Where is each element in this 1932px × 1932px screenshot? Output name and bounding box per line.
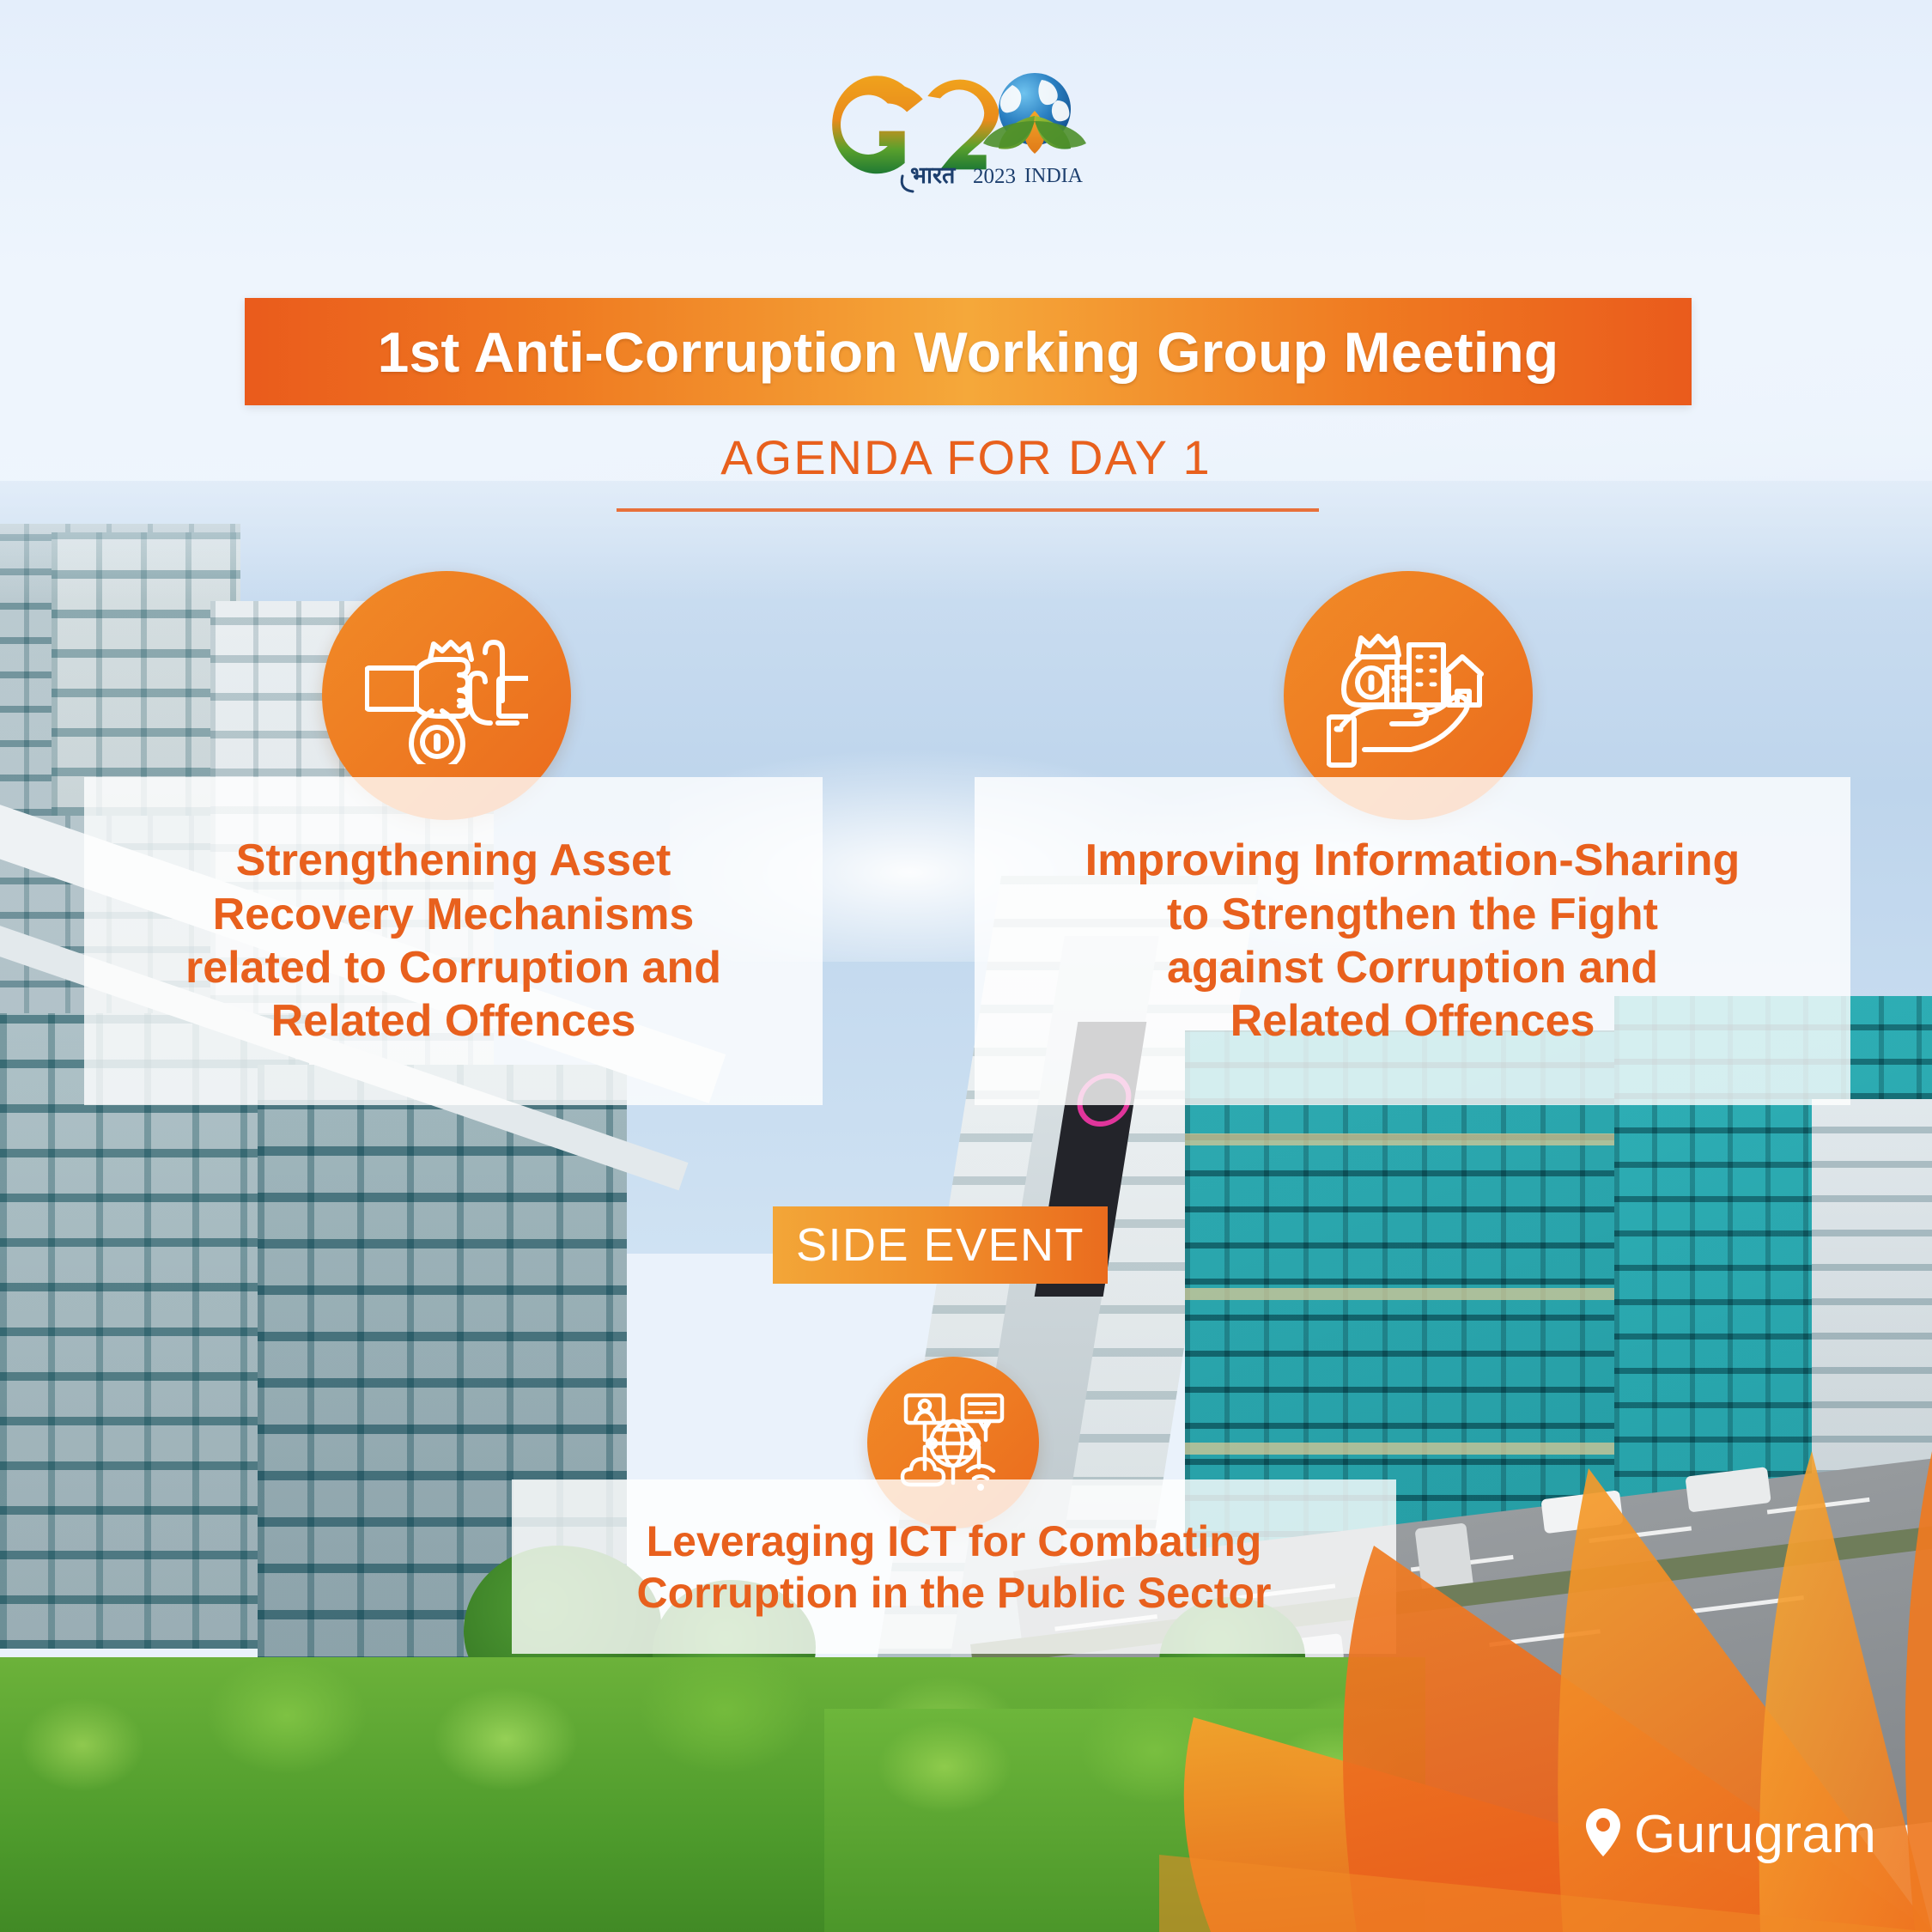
side-event-label: SIDE EVENT	[796, 1218, 1084, 1272]
g20-logo: भारत 2023 INDIA	[829, 47, 1103, 202]
poster-root: भारत 2023 INDIA 1st Anti-Corruption Work…	[0, 0, 1932, 1932]
agenda-subtitle: AGENDA FOR DAY 1	[0, 429, 1932, 485]
side-event-panel: Leveraging ICT for Combating Corruption …	[512, 1479, 1396, 1654]
agenda-item-2-line-3: against Corruption and	[997, 941, 1828, 994]
agenda-item-1-line-1: Strengthening Asset	[106, 834, 800, 887]
agenda-item-2-line-2: to Strengthen the Fight	[997, 888, 1828, 941]
side-event-badge: SIDE EVENT	[773, 1206, 1108, 1284]
foreground-hedge-right	[824, 1709, 1425, 1932]
agenda-item-1-panel: Strengthening Asset Recovery Mechanisms …	[84, 777, 823, 1105]
location-name: Gurugram	[1634, 1804, 1876, 1865]
meeting-title-banner: 1st Anti-Corruption Working Group Meetin…	[245, 298, 1692, 405]
agenda-item-2-panel: Improving Information-Sharing to Strengt…	[975, 777, 1850, 1105]
location-pin-icon	[1584, 1807, 1622, 1862]
svg-text:2023: 2023	[973, 165, 1016, 188]
agenda-divider	[617, 508, 1319, 512]
agenda-item-1-line-2: Recovery Mechanisms	[106, 888, 800, 941]
agenda-item-1-line-3: related to Corruption and	[106, 941, 800, 994]
svg-text:भारत: भारत	[910, 162, 957, 188]
location-label: Gurugram	[1584, 1804, 1876, 1865]
svg-text:INDIA: INDIA	[1024, 165, 1084, 187]
agenda-item-1-line-4: Related Offences	[106, 994, 800, 1048]
agenda-item-2-line-1: Improving Information-Sharing	[997, 834, 1828, 887]
agenda-item-2-line-4: Related Offences	[997, 994, 1828, 1048]
side-event-line-2: Corruption in the Public Sector	[534, 1567, 1374, 1619]
side-event-line-1: Leveraging ICT for Combating	[534, 1516, 1374, 1567]
page-title: 1st Anti-Corruption Working Group Meetin…	[378, 319, 1559, 385]
